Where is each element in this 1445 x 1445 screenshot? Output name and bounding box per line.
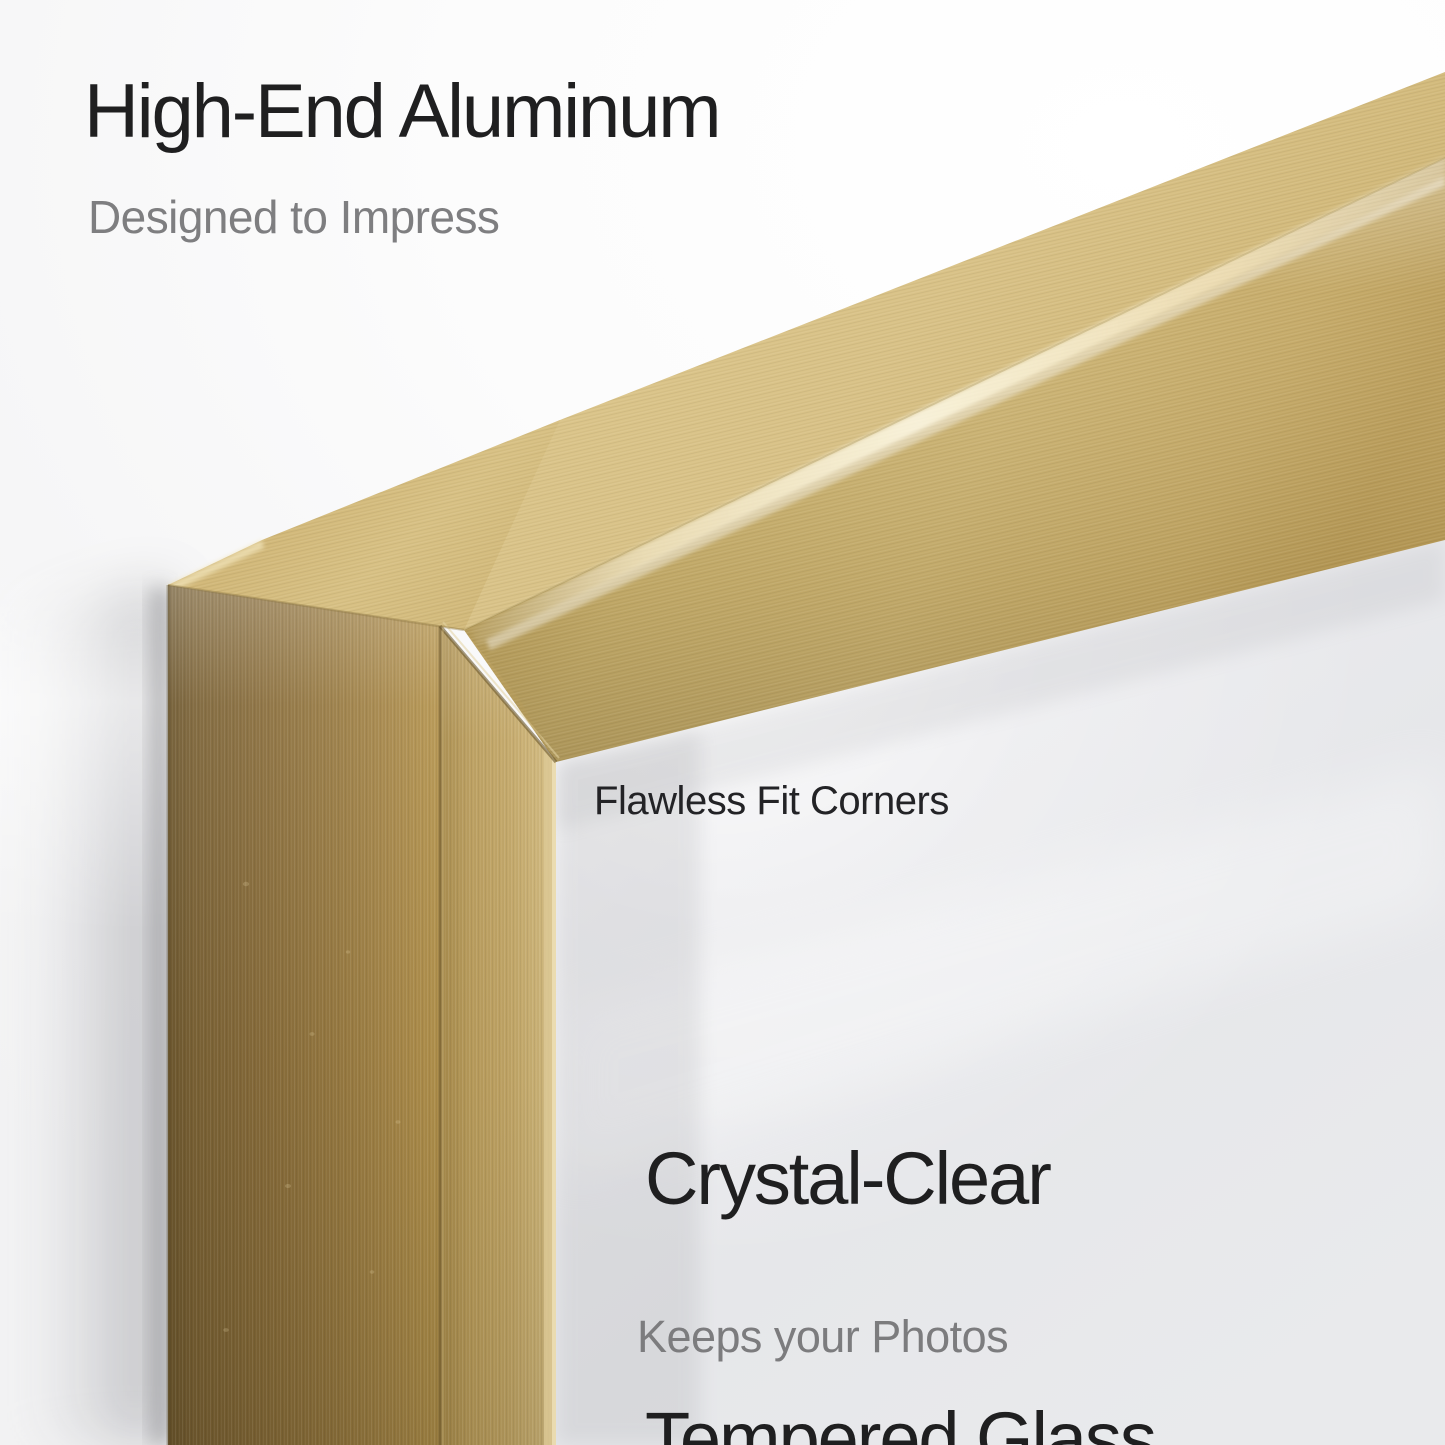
frame-cast-shadow [0,560,175,1445]
callout-corner-label: Flawless Fit Corners [594,779,949,824]
callout-glass-subtitle: Keeps your Photos Looking Sharp [637,1196,1008,1445]
callout-glass-sub-line1: Keeps your Photos [637,1309,1008,1366]
page-subtitle: Designed to Impress [88,192,499,243]
page-title: High-End Aluminum [84,72,719,152]
product-feature-image: High-End Aluminum Designed to Impress Fl… [0,0,1445,1445]
